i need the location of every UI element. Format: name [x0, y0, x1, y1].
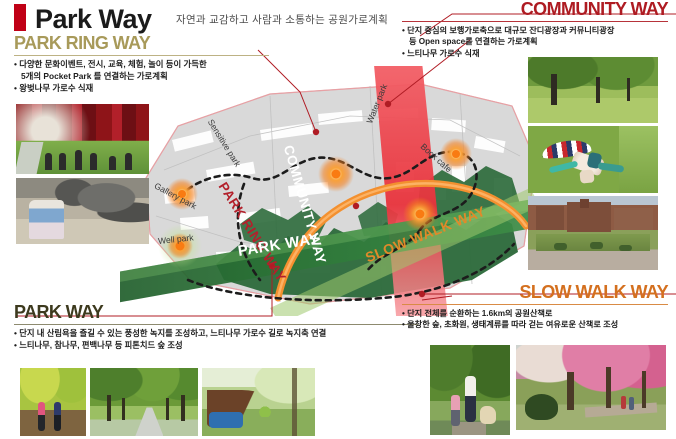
- bullet-item: 5개의 Pocket Park 를 연결하는 가로계획: [14, 71, 274, 83]
- tree-lined-avenue-photo: [90, 368, 198, 436]
- park-way-presentation-slide: Park Way 자연과 교감하고 사람과 소통하는 공원가로계획: [0, 0, 676, 439]
- section-heading-community-way: COMMUNITY WAY: [402, 0, 668, 20]
- bullet-item: • 왕벚나무 가로수 식재: [14, 83, 274, 95]
- red-mural-plaza-photo: [16, 104, 149, 174]
- section-heading-park-way: PARK WAY: [14, 303, 434, 323]
- section-bullets-community-way: • 단지 중심의 보행가로축으로 대규모 잔디광장과 커뮤니티광장 등 Open…: [402, 25, 668, 60]
- forest-meditation-photo: [202, 368, 315, 436]
- section-bullets-park-way: • 단지 내 산림욕을 즐길 수 있는 풍성한 녹지를 조성하고, 느티나무 가…: [14, 328, 434, 352]
- bullet-item: • 느티나무, 참나무, 편백나무 등 피톤치드 숲 조성: [14, 340, 434, 352]
- section-rule: [402, 21, 668, 22]
- umbrella-picnic-photo: [528, 126, 658, 193]
- bullet-item: • 단지 중심의 보행가로축으로 대규모 잔디광장과 커뮤니티광장: [402, 25, 668, 37]
- photo-detail: [29, 200, 64, 238]
- section-rule: [14, 324, 418, 325]
- section-rule: [402, 304, 668, 305]
- family-dog-walk-photo: [430, 345, 510, 435]
- bullet-item: • 울창한 숲, 초화원, 생태계류를 따라 걷는 여유로운 산책로 조성: [402, 319, 668, 331]
- section-bullets-slow-walk-way: • 단지 전체를 순환하는 1.6km의 공원산책로 • 울창한 숲, 초화원,…: [402, 308, 668, 331]
- section-community-way: COMMUNITY WAY • 단지 중심의 보행가로축으로 대규모 잔디광장과…: [402, 0, 668, 60]
- bullet-item: • 단지 내 산림욕을 즐길 수 있는 풍성한 녹지를 조성하고, 느티나무 가…: [14, 328, 434, 340]
- section-heading-park-ring-way: PARK RING WAY: [14, 34, 274, 54]
- park-lawn-trees-photo: [528, 57, 658, 123]
- joggers-in-woods-photo: [20, 368, 86, 436]
- section-rule: [14, 55, 269, 56]
- bullet-item: • 단지 전체를 순환하는 1.6km의 공원산책로: [402, 308, 668, 320]
- section-bullets-park-ring-way: • 다양한 문화이벤트, 전시, 교육, 체험, 놀이 등이 가득한 5개의 P…: [14, 59, 274, 95]
- city-plaza-photo: [528, 196, 658, 270]
- section-park-way: PARK WAY • 단지 내 산림욕을 즐길 수 있는 풍성한 녹지를 조성하…: [14, 303, 434, 351]
- bullet-item: • 다양한 문화이벤트, 전시, 교육, 체험, 놀이 등이 가득한: [14, 59, 274, 71]
- section-heading-slow-walk-way: SLOW WALK WAY: [402, 283, 668, 303]
- section-park-ring-way: PARK RING WAY • 다양한 문화이벤트, 전시, 교육, 체험, 놀…: [14, 34, 274, 95]
- child-on-rocks-photo: [16, 178, 149, 244]
- cherry-blossom-park-photo: [516, 345, 666, 430]
- section-slow-walk-way: SLOW WALK WAY • 단지 전체를 순환하는 1.6km의 공원산책로…: [402, 283, 668, 331]
- bullet-item: 등 Open space를 연결하는 가로계획: [402, 36, 668, 48]
